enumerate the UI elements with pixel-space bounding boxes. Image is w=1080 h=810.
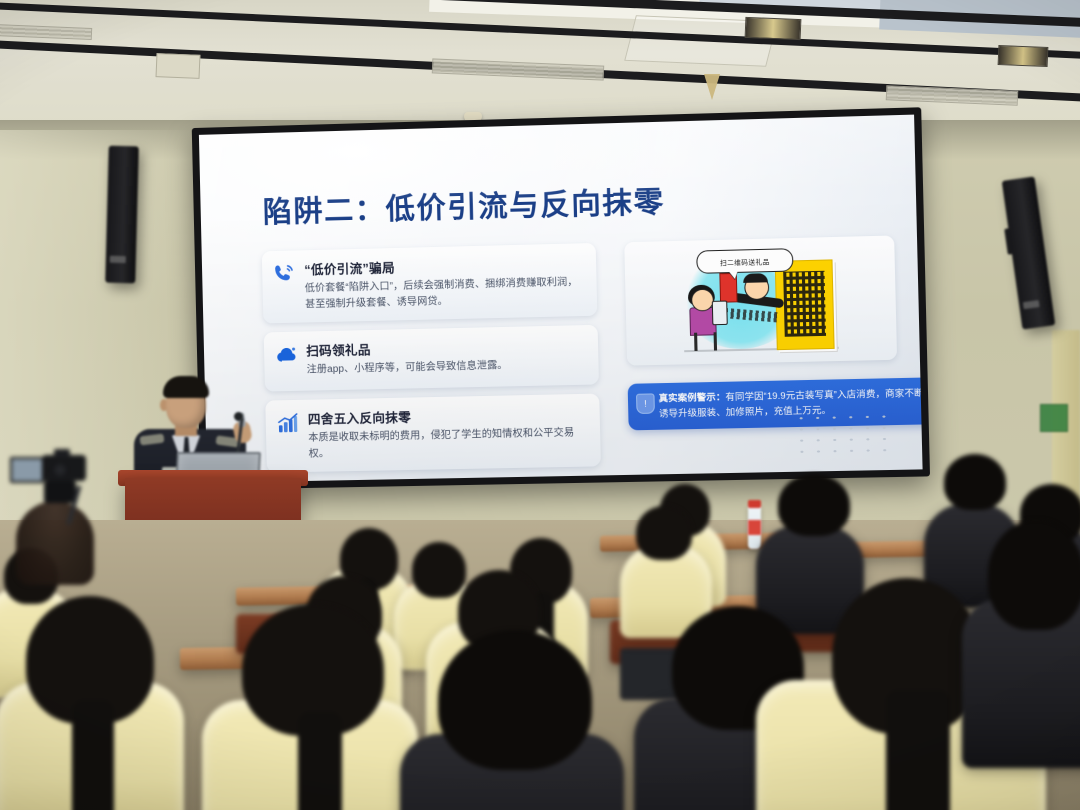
slide-card-title: “低价引流”骗局 [304, 252, 584, 278]
qr-code-panel [775, 259, 835, 350]
slide-card: 扫码领礼品 注册app、小程序等，可能会导致信息泄露。 [264, 325, 599, 392]
slide-card-list: “低价引流”骗局 低价套餐“陷阱入口”，后续会强制消费、捆绑消费赚取利润，甚至强… [262, 243, 601, 482]
shield-alert-icon: ! [636, 393, 655, 414]
air-vent [0, 24, 92, 40]
lecture-hall-photo: 陷阱二：低价引流与反向抹零 “低价引流”骗局 低价套餐“陷阱入口”，后续会强制消… [0, 0, 1080, 810]
slide-card-body: 低价套餐“陷阱入口”，后续会强制消费、捆绑消费赚取利润，甚至强制升级套餐、诱导网… [305, 275, 585, 313]
camera-lens-icon [50, 461, 70, 479]
bottle-label [748, 520, 761, 535]
audience-hair [988, 520, 1080, 630]
microphone-head [234, 412, 243, 421]
wall-speaker-left [105, 146, 139, 284]
slide-card-body: 注册app、小程序等，可能会导致信息泄露。 [307, 356, 587, 378]
qr-code-icon [783, 271, 826, 337]
speech-bubble: 扫二维码送礼品 [696, 248, 793, 274]
tripod-head [44, 481, 76, 503]
ceiling-sensor [156, 53, 201, 79]
audience-hair [438, 630, 592, 770]
audience-hair [636, 506, 692, 560]
ceiling-light [998, 45, 1049, 67]
camera-flip-screen [10, 457, 44, 483]
slide-card-title: 扫码领礼品 [306, 334, 586, 359]
slide-title: 陷阱二：低价引流与反向抹零 [262, 178, 665, 231]
bottle-cap [748, 500, 761, 508]
slide-card-body: 本质是收取未标明的费用，侵犯了学生的知情权和公平交易权。 [308, 425, 588, 462]
audience-ponytail [298, 712, 342, 810]
phone-call-icon [272, 262, 297, 287]
slide-card-title: 四舍五入反向抹零 [308, 403, 588, 428]
slide-card: “低价引流”骗局 低价套餐“陷阱入口”，后续会强制消费、捆绑消费赚取利润，甚至强… [262, 243, 598, 323]
slide-illustration: 扫二维码送礼品 [624, 235, 897, 365]
presenter-hair [163, 376, 209, 398]
dot-grid-decoration [793, 411, 893, 456]
ceiling-light [745, 17, 802, 40]
audience-hair [944, 454, 1006, 510]
cartoon-man-hair [743, 273, 768, 283]
audience-hair [778, 474, 850, 536]
slide-card: 四舍五入反向抹零 本质是收取未标明的费用，侵犯了学生的知情权和公平交易权。 [265, 394, 601, 473]
scan-cloud-icon [274, 343, 299, 368]
sprinkler-icon [704, 74, 720, 100]
warning-label: 真实案例警示： [659, 392, 726, 404]
qr-code-gift-scam-cartoon: 扫二维码送礼品 [676, 245, 854, 357]
camera-hotshoe [54, 449, 70, 457]
audience-hair [412, 542, 466, 598]
audience-ponytail [886, 690, 950, 810]
video-camera-tripod [10, 455, 96, 585]
smartphone-icon [712, 301, 728, 326]
tripod-legs [16, 501, 94, 585]
air-vent [886, 85, 1019, 106]
air-vent [432, 58, 604, 80]
audience-ponytail [72, 700, 114, 810]
cartoon-woman-legs [694, 332, 717, 351]
exit-sign-icon [1040, 404, 1068, 432]
